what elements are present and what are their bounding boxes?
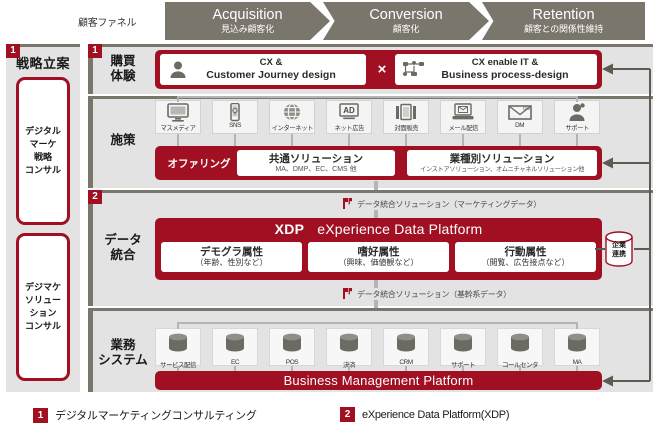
card-cx-enable-it[interactable]: CX enable IT & Business process-design <box>395 54 597 85</box>
legend-text: デジタルマーケティングコンサルティング <box>55 407 257 423</box>
channel-caption: DM <box>515 122 524 129</box>
system-node-call-center[interactable]: コールセンタ <box>497 328 543 366</box>
data-connector-stub-bottom <box>374 280 378 288</box>
solution-title: 共通ソリューション <box>269 153 363 165</box>
channel-drop-line <box>348 134 350 146</box>
channel-caption: メール配信 <box>448 122 478 132</box>
envelope-icon: DM <box>507 103 533 122</box>
channel-caption: サポート <box>565 122 589 132</box>
diagram-root: 顧客ファネル Acquisition 見込み顧客化 Conversion 顧客化… <box>0 0 659 430</box>
row-accent-bar <box>88 193 93 306</box>
system-caption: EC <box>231 359 239 366</box>
data-connector-stub-top <box>374 181 378 190</box>
xdp-name: eXperience Data Platform <box>317 221 482 237</box>
xdp-abbr: XDP <box>275 221 305 237</box>
database-icon <box>507 332 533 359</box>
legend-badge: 1 <box>33 408 48 423</box>
channel-up-line <box>576 96 578 102</box>
system-caption: CRM <box>399 359 412 366</box>
funnel-label: 顧客ファネル <box>78 14 136 29</box>
system-up-line <box>576 322 578 329</box>
channel-drop-line <box>291 134 293 146</box>
storefront-icon <box>394 103 418 122</box>
channel-caption: インターネット <box>271 122 312 132</box>
note-data-integration-marketing: データ統合ソリューション（マーケティングデータ） <box>342 198 541 211</box>
funnel-stage-title: Conversion <box>369 7 442 23</box>
support-agent-icon <box>565 103 589 122</box>
legend: 1 デジタルマーケティングコンサルティング 2 eXperience Data … <box>0 400 659 430</box>
funnel-stage-title: Acquisition <box>212 7 282 23</box>
system-node-ec[interactable]: EC <box>212 328 258 366</box>
card-line2: Customer Journey design <box>176 69 366 82</box>
legend-badge: 2 <box>340 407 355 422</box>
strategy-card-label: デジマケ ソリュー ション コンサル <box>25 281 61 333</box>
channel-tile-support[interactable]: サポート <box>554 100 600 134</box>
funnel-stage-conversion: Conversion 顧客化 <box>323 2 489 40</box>
system-node-pos[interactable]: POS <box>269 328 315 366</box>
channel-bus-line <box>178 96 578 98</box>
card-line1: CX & <box>176 57 366 69</box>
channel-caption: 対面販売 <box>394 122 418 132</box>
channel-caption: SNS <box>229 122 241 129</box>
svg-text:DM: DM <box>523 106 530 111</box>
legend-item-2: 2 eXperience Data Platform(XDP) <box>340 407 509 422</box>
system-caption: MA <box>573 359 582 366</box>
channel-drop-line <box>576 134 578 146</box>
attribute-title: 嗜好属性 <box>358 246 400 258</box>
svg-text:AD: AD <box>343 106 355 115</box>
monitor-icon <box>166 103 190 122</box>
attribute-preference[interactable]: 嗜好属性 （興味、価値観など） <box>308 242 449 272</box>
channel-caption: マスメディア <box>160 122 195 132</box>
offering-label: オファリング <box>163 156 235 171</box>
solution-title: 業種別ソリューション <box>450 153 555 165</box>
partner-cylinder[interactable]: 企業 連携 <box>604 230 634 268</box>
database-icon <box>336 332 362 359</box>
channel-drop-line <box>234 134 236 146</box>
funnel-stage-subtitle: 顧客との関係性維持 <box>524 23 603 35</box>
funnel-stage-subtitle: 顧客化 <box>393 23 419 35</box>
business-management-platform-bar: Business Management Platform <box>155 371 602 390</box>
channel-tile-dm[interactable]: DM DM <box>497 100 543 134</box>
note-data-integration-core: データ統合ソリューション（基幹系データ） <box>342 288 511 301</box>
operator-multiply: × <box>371 61 393 78</box>
row-purchase-badge: 1 <box>88 44 102 58</box>
attribute-demographic[interactable]: デモグラ属性 （年齢、性別など） <box>161 242 302 272</box>
channel-up-line <box>177 96 179 102</box>
database-icon <box>279 332 305 359</box>
note-text: データ統合ソリューション（基幹系データ） <box>357 289 511 300</box>
channel-tile-face-to-face[interactable]: 対面販売 <box>383 100 429 134</box>
card-cx-customer-journey[interactable]: CX & Customer Journey design <box>160 54 366 85</box>
funnel-stage-retention: Retention 顧客との関係性維持 <box>482 2 645 40</box>
system-node-crm[interactable]: CRM <box>383 328 429 366</box>
row-label-business-systems: 業務 システム <box>92 338 154 368</box>
system-node-ma[interactable]: MA <box>554 328 600 366</box>
channel-caption: ネット広告 <box>334 122 364 132</box>
database-icon <box>393 332 419 359</box>
database-icon <box>450 332 476 359</box>
channel-tile-mass-media[interactable]: マスメディア <box>155 100 201 134</box>
ad-monitor-icon: AD <box>337 103 361 122</box>
strategy-card-label: デジタル マーケ 戦略 コンサル <box>25 125 61 177</box>
database-icon <box>165 332 191 359</box>
attribute-title: 行動属性 <box>505 246 547 258</box>
channel-drop-line <box>405 134 407 146</box>
laptop-mail-icon <box>451 103 475 122</box>
attribute-behavior[interactable]: 行動属性 （閲覧、広告接点など） <box>455 242 596 272</box>
globe-icon <box>280 103 304 122</box>
system-node-payment[interactable]: 決済 <box>326 328 372 366</box>
solution-flag-icon <box>342 288 353 301</box>
channel-tile-email[interactable]: メール配信 <box>440 100 486 134</box>
solution-common[interactable]: 共通ソリューション MA、DMP、EC、CMS 他 <box>237 150 395 176</box>
channel-tile-net-ad[interactable]: AD ネット広告 <box>326 100 372 134</box>
purchase-experience-bar: CX & Customer Journey design × CX enable… <box>155 50 602 89</box>
partner-link-left <box>595 248 605 250</box>
channel-drop-line <box>519 134 521 146</box>
funnel-stage-acquisition: Acquisition 見込み顧客化 <box>165 2 330 40</box>
solution-flag-icon <box>342 198 353 211</box>
row-accent-bar <box>88 99 93 188</box>
platform-bar-label: Business Management Platform <box>284 373 474 388</box>
card-line1: CX enable IT & <box>413 57 597 69</box>
system-caption: POS <box>286 359 298 366</box>
card-line2: Business process-design <box>413 69 597 82</box>
row-data-badge: 2 <box>88 190 102 204</box>
strategy-card-solution-consulting[interactable]: デジマケ ソリュー ション コンサル <box>16 233 70 381</box>
funnel-stage-title: Retention <box>532 7 594 23</box>
process-network-icon <box>403 61 425 84</box>
channel-drop-line <box>177 134 179 146</box>
row-label-purchase: 購買 体験 <box>96 54 150 84</box>
customer-funnel: Acquisition 見込み顧客化 Conversion 顧客化 Retent… <box>165 2 645 40</box>
row-label-measures: 施策 <box>96 133 150 148</box>
solution-sub: MA、DMP、EC、CMS 他 <box>275 165 356 174</box>
note-text: データ統合ソリューション（マーケティングデータ） <box>357 199 541 210</box>
database-icon <box>222 332 248 359</box>
partner-cylinder-label: 企業 連携 <box>604 241 634 259</box>
strategy-column: 戦略立案 デジタル マーケ 戦略 コンサル デジマケ ソリュー ション コンサル <box>6 44 80 392</box>
attribute-sub: （興味、価値観など） <box>339 258 419 268</box>
solution-industry[interactable]: 業種別ソリューション インストアソリューション、オムニチャネルソリューション他 <box>407 150 597 176</box>
strategy-card-digital-marketing[interactable]: デジタル マーケ 戦略 コンサル <box>16 77 70 225</box>
system-node-support[interactable]: サポート <box>440 328 486 366</box>
system-up-line <box>177 322 179 329</box>
legend-text: eXperience Data Platform(XDP) <box>362 409 509 421</box>
database-icon <box>564 332 590 359</box>
channel-tile-sns[interactable]: SNS <box>212 100 258 134</box>
attribute-sub: （年齢、性別など） <box>196 258 268 268</box>
solution-sub: インストアソリューション、オムニチャネルソリューション他 <box>420 165 584 174</box>
data-connector-stub-top2 <box>374 210 378 218</box>
system-node-service-delivery[interactable]: サービス配信 <box>155 328 201 366</box>
channel-tile-internet[interactable]: インターネット <box>269 100 315 134</box>
row-label-data-integration: データ 統合 <box>96 233 150 263</box>
attribute-sub: （閲覧、広告接点など） <box>482 258 570 268</box>
person-icon <box>168 60 188 85</box>
xdp-platform: XDP eXperience Data Platform デモグラ属性 （年齢、… <box>155 218 602 280</box>
attribute-title: デモグラ属性 <box>200 246 263 258</box>
smartphone-icon <box>223 103 247 122</box>
channel-drop-line <box>462 134 464 146</box>
strategy-badge: 1 <box>6 44 20 58</box>
funnel-stage-subtitle: 見込み顧客化 <box>221 23 274 35</box>
legend-item-1: 1 デジタルマーケティングコンサルティング <box>33 407 257 423</box>
systems-bus-line <box>178 322 578 324</box>
offering-bar: オファリング 共通ソリューション MA、DMP、EC、CMS 他 業種別ソリュー… <box>155 146 602 180</box>
